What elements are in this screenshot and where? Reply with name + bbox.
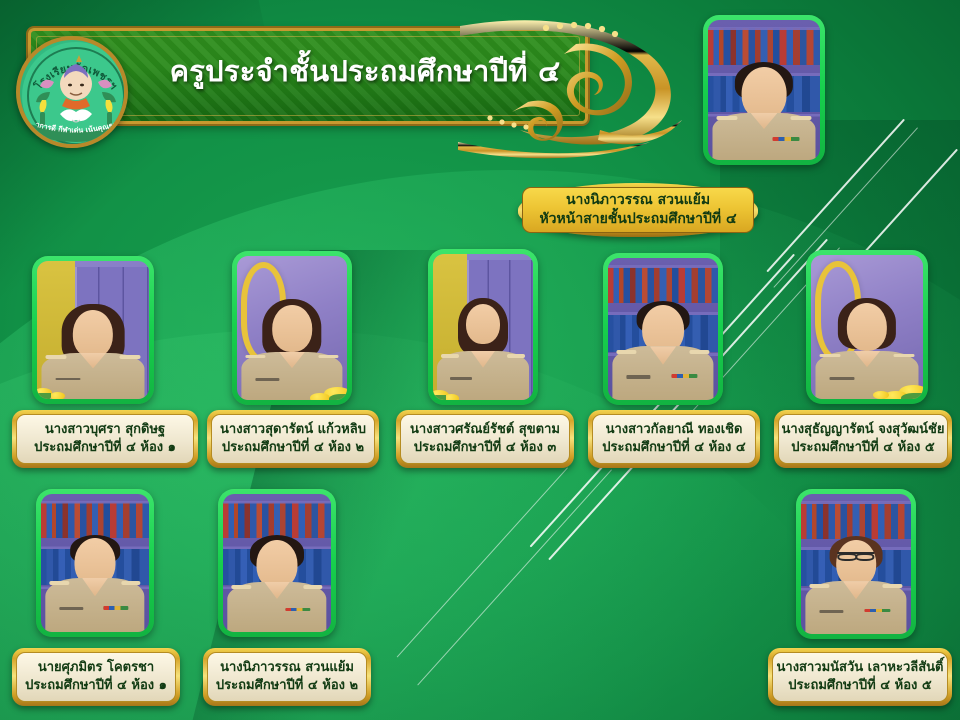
name-tag — [820, 610, 844, 613]
teacher-name: นางนิภาวรรณ สวนแย้ม — [220, 660, 354, 676]
teacher-classroom: ประถมศึกษาปีที่ ๔ ห้อง ๒ — [216, 678, 358, 694]
teacher-name: นางสุธัญญารัตน์ จงสุวัฒน์ชัย — [782, 422, 945, 438]
teacher-nameplate-8: นางสาวมนัสวัน เลาหะวลีสันติ์ ประถมศึกษาป… — [768, 648, 952, 706]
epaulet-left — [245, 355, 265, 359]
uniform-body — [227, 582, 326, 632]
teacher-photo-1[interactable] — [32, 256, 154, 404]
teacher-classroom: ประถมศึกษาปีที่ ๔ ห้อง ๕ — [788, 678, 931, 694]
person-figure — [433, 298, 533, 400]
rank-ribbons — [864, 609, 890, 613]
teacher-name: นางสาวศรัณย์รัชต์ สุขตาม — [410, 422, 560, 438]
person-figure — [41, 535, 149, 632]
teacher-nameplate-5-inner: นางสุธัญญารัตน์ จงสุวัฒน์ชัย ประถมศึกษาป… — [778, 414, 948, 464]
name-tag — [830, 377, 855, 380]
head-teacher-nameplate: นางนิภาวรรณ สวนแย้ม หัวหน้าสายชั้นประถมศ… — [518, 183, 758, 237]
face — [742, 67, 787, 120]
uniform-body — [612, 346, 713, 400]
epaulet-left — [441, 354, 459, 358]
uniform-body — [712, 113, 815, 160]
teacher-photo-5-inner — [811, 255, 923, 399]
name-tag — [59, 607, 83, 610]
teacher-photo-2[interactable] — [232, 251, 352, 405]
teacher-nameplate-8-inner: นางสาวมนัสวัน เลาหะวลีสันติ์ ประถมศึกษาป… — [772, 652, 948, 702]
teacher-classroom: ประถมศึกษาปีที่ ๔ ห้อง ๑ — [25, 678, 167, 694]
epaulet-left — [809, 584, 829, 588]
flower-bouquet — [433, 363, 489, 400]
epaulet-left — [717, 116, 738, 120]
flower-bouquet — [285, 364, 347, 400]
head-teacher-photo[interactable] — [703, 15, 825, 165]
rank-ribbons — [285, 608, 311, 612]
teacher-nameplate-5: นางสุธัญญารัตน์ จงสุวัฒน์ชัย ประถมศึกษาป… — [774, 410, 952, 468]
head-teacher-name: นางนิภาวรรณ สวนแย้ม — [566, 192, 710, 210]
teacher-nameplate-4: นางสาวกัลยาณี ทองเชิด ประถมศึกษาปีที่ ๔ … — [588, 410, 760, 468]
person-figure — [801, 536, 911, 634]
teacher-classroom: ประถมศึกษาปีที่ ๔ ห้อง ๑ — [34, 440, 176, 456]
teacher-photo-3[interactable] — [428, 249, 538, 405]
teacher-nameplate-3-inner: นางสาวศรัณย์รัชต์ สุขตาม ประถมศึกษาปีที่… — [400, 414, 570, 464]
teacher-nameplate-3: นางสาวศรัณย์รัชต์ สุขตาม ประถมศึกษาปีที่… — [396, 410, 574, 468]
teacher-name: นายศุภมิตร โคตรชา — [38, 660, 154, 676]
rank-ribbons — [671, 374, 697, 378]
teacher-photo-1-inner — [37, 261, 149, 399]
teacher-nameplate-6: นายศุภมิตร โคตรชา ประถมศึกษาปีที่ ๔ ห้อง… — [12, 648, 180, 706]
epaulet-left — [616, 350, 636, 354]
teacher-name: นางสาวกัลยาณี ทองเชิด — [606, 422, 743, 438]
teacher-nameplate-4-inner: นางสาวกัลยาณี ทองเชิด ประถมศึกษาปีที่ ๔ … — [592, 414, 756, 464]
teacher-photo-7[interactable] — [218, 489, 336, 637]
face — [466, 304, 500, 344]
teacher-photo-7-inner — [223, 494, 331, 632]
diagonal-streak-7 — [548, 459, 640, 561]
teacher-photo-8-inner — [801, 494, 911, 634]
teacher-classroom: ประถมศึกษาปีที่ ๔ ห้อง ๒ — [222, 440, 364, 456]
teacher-classroom: ประถมศึกษาปีที่ ๔ ห้อง ๕ — [791, 440, 934, 456]
name-tag — [256, 378, 280, 381]
flower-bouquet — [37, 364, 100, 399]
epaulet-right — [121, 581, 141, 585]
teacher-photo-2-inner — [237, 256, 347, 400]
head-teacher-role: หัวหน้าสายชั้นประถมศึกษาปีที่ ๔ — [539, 211, 736, 229]
epaulet-left — [820, 354, 841, 358]
person-figure — [37, 302, 149, 399]
head-teacher-photo-inner — [708, 20, 820, 160]
teacher-nameplate-1: นางสาวบุศรา สุกดิษฐ ประถมศึกษาปีที่ ๔ ห้… — [12, 410, 198, 468]
teacher-nameplate-7-inner: นางนิภาวรรณ สวนแย้ม ประถมศึกษาปีที่ ๔ ห้… — [207, 652, 367, 702]
teacher-classroom: ประถมศึกษาปีที่ ๔ ห้อง ๓ — [414, 440, 557, 456]
teacher-name: นางสาวบุศรา สุกดิษฐ — [45, 422, 165, 438]
glasses-icon — [837, 552, 874, 557]
teacher-nameplate-2: นางสาวสุดารัตน์ แก้วหลิบ ประถมศึกษาปีที่… — [207, 410, 379, 468]
person-figure — [237, 299, 347, 400]
teacher-name: นางสาวมนัสวัน เลาหะวลีสันติ์ — [777, 660, 944, 676]
teacher-photo-6-inner — [41, 494, 149, 632]
head-teacher-nameplate-inner: นางนิภาวรรณ สวนแย้ม หัวหน้าสายชั้นประถมศ… — [522, 187, 754, 233]
diagonal-streak-8 — [530, 461, 608, 548]
school-logo-emblem: โรงเรียนวัดเพชรฯ — [20, 40, 128, 148]
diagonal-streak-9 — [417, 469, 612, 685]
uniform-body — [805, 581, 906, 634]
flower-bouquet — [860, 363, 923, 399]
teacher-photo-4[interactable] — [603, 253, 723, 405]
epaulet-right — [791, 116, 812, 120]
teacher-photo-4-inner — [608, 258, 718, 400]
person-figure — [608, 301, 718, 400]
person-figure — [708, 62, 820, 160]
rank-ribbons — [772, 137, 799, 140]
school-logo: โรงเรียนวัดเพชรฯ — [16, 36, 128, 148]
teacher-nameplate-7: นางนิภาวรรณ สวนแย้ม ประถมศึกษาปีที่ ๔ ห้… — [203, 648, 371, 706]
teacher-photo-5[interactable] — [806, 250, 928, 404]
person-figure — [223, 535, 331, 632]
diagonal-streak-10 — [397, 467, 568, 657]
teacher-photo-3-inner — [433, 254, 533, 400]
person-figure — [811, 298, 923, 399]
face — [73, 310, 113, 358]
teacher-board-poster: ครูประจำชั้นประถมศึกษาปีที่ ๔ — [0, 0, 960, 720]
face — [836, 540, 876, 587]
epaulet-right — [303, 585, 323, 589]
epaulet-right — [120, 355, 141, 359]
face — [272, 305, 312, 352]
teacher-nameplate-1-inner: นางสาวบุศรา สุกดิษฐ ประถมศึกษาปีที่ ๔ ห้… — [16, 414, 194, 464]
epaulet-left — [46, 355, 67, 359]
header-banner: ครูประจำชั้นประถมศึกษาปีที่ ๔ — [0, 14, 690, 138]
epaulet-right — [894, 354, 915, 358]
gold-scroll-ornament — [450, 10, 690, 160]
teacher-name: นางสาวสุดารัตน์ แก้วหลิบ — [220, 422, 366, 438]
epaulet-left — [49, 581, 69, 585]
epaulet-left — [231, 585, 251, 589]
epaulet-right — [882, 584, 902, 588]
rank-ribbons — [103, 606, 129, 610]
teacher-photo-8[interactable] — [796, 489, 916, 639]
name-tag — [627, 375, 651, 378]
epaulet-right — [318, 355, 338, 359]
epaulet-right — [507, 354, 525, 358]
uniform-body — [45, 578, 144, 632]
face — [847, 303, 887, 351]
teacher-classroom: ประถมศึกษาปีที่ ๔ ห้อง ๔ — [602, 440, 745, 456]
teacher-photo-6[interactable] — [36, 489, 154, 637]
epaulet-right — [689, 350, 709, 354]
teacher-nameplate-2-inner: นางสาวสุดารัตน์ แก้วหลิบ ประถมศึกษาปีที่… — [211, 414, 375, 464]
teacher-nameplate-6-inner: นายศุภมิตร โคตรชา ประถมศึกษาปีที่ ๔ ห้อง… — [16, 652, 176, 702]
